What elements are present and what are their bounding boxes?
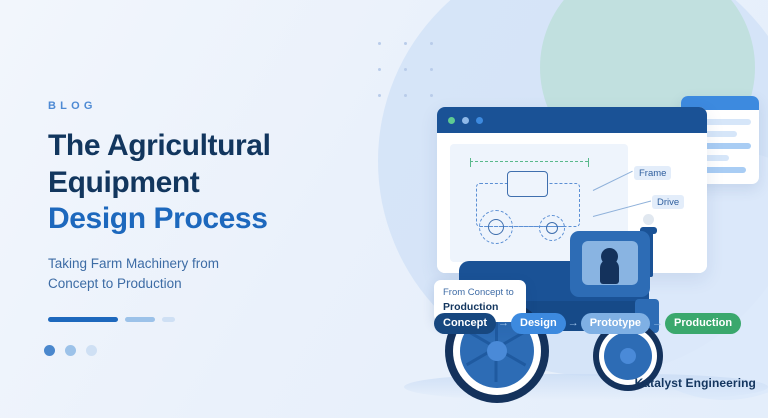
progress-bar-faint <box>162 317 175 322</box>
tooltip-line-2: Production <box>443 300 517 314</box>
eyebrow-label: BLOG <box>48 100 368 112</box>
dimension-line <box>470 161 588 162</box>
progress-bar-mid <box>125 317 155 322</box>
headline-line-2: Equipment <box>48 166 199 199</box>
blueprint-cab-outline <box>507 171 548 197</box>
exhaust-smoke-1 <box>643 214 654 225</box>
process-pipeline: Concept → Design → Prototype → Productio… <box>434 313 741 334</box>
pipeline-stage-prototype[interactable]: Prototype <box>581 313 650 334</box>
window-dot-green-icon[interactable] <box>448 117 455 124</box>
driver-body <box>600 259 619 284</box>
pipeline-stage-design[interactable]: Design <box>511 313 566 334</box>
cad-label-frame: Frame <box>634 166 671 180</box>
subtitle: Taking Farm Machinery from Concept to Pr… <box>48 254 368 295</box>
tooltip-line-1: From Concept to <box>443 287 517 300</box>
blog-banner: BLOG The Agricultural Equipment Design P… <box>0 0 768 418</box>
pipeline-arrow-1-icon: → <box>496 317 511 329</box>
pipeline-stage-production[interactable]: Production <box>665 313 741 334</box>
subtitle-line-1: Taking Farm Machinery from <box>48 256 219 271</box>
brand-signature: Katalyst Engineering <box>635 376 756 390</box>
headline-line-1: The Agricultural <box>48 129 271 162</box>
dot-grid-pattern <box>378 42 440 104</box>
subtitle-line-2: Concept to Production <box>48 276 182 291</box>
page-title: The Agricultural Equipment Design Proces… <box>48 128 368 238</box>
pipeline-stage-concept[interactable]: Concept <box>434 313 496 334</box>
browser-title-bar <box>437 107 707 133</box>
pagination-dot-active[interactable] <box>44 345 55 356</box>
progress-bar-group <box>48 317 368 322</box>
window-dot-light-blue-icon[interactable] <box>462 117 469 124</box>
pipeline-arrow-2-icon: → <box>566 317 581 329</box>
window-dot-blue-icon[interactable] <box>476 117 483 124</box>
pagination-dot-2[interactable] <box>65 345 76 356</box>
cad-label-drive: Drive <box>652 195 684 209</box>
headline-line-3: Design Process <box>48 202 268 235</box>
progress-bar-active <box>48 317 118 322</box>
rear-wheel-hub <box>487 341 507 361</box>
pagination-dot-3[interactable] <box>86 345 97 356</box>
text-column: BLOG The Agricultural Equipment Design P… <box>48 100 368 322</box>
pipeline-arrow-3-icon: → <box>650 317 665 329</box>
pagination-dots[interactable] <box>44 345 97 356</box>
front-wheel-hub <box>620 348 636 364</box>
